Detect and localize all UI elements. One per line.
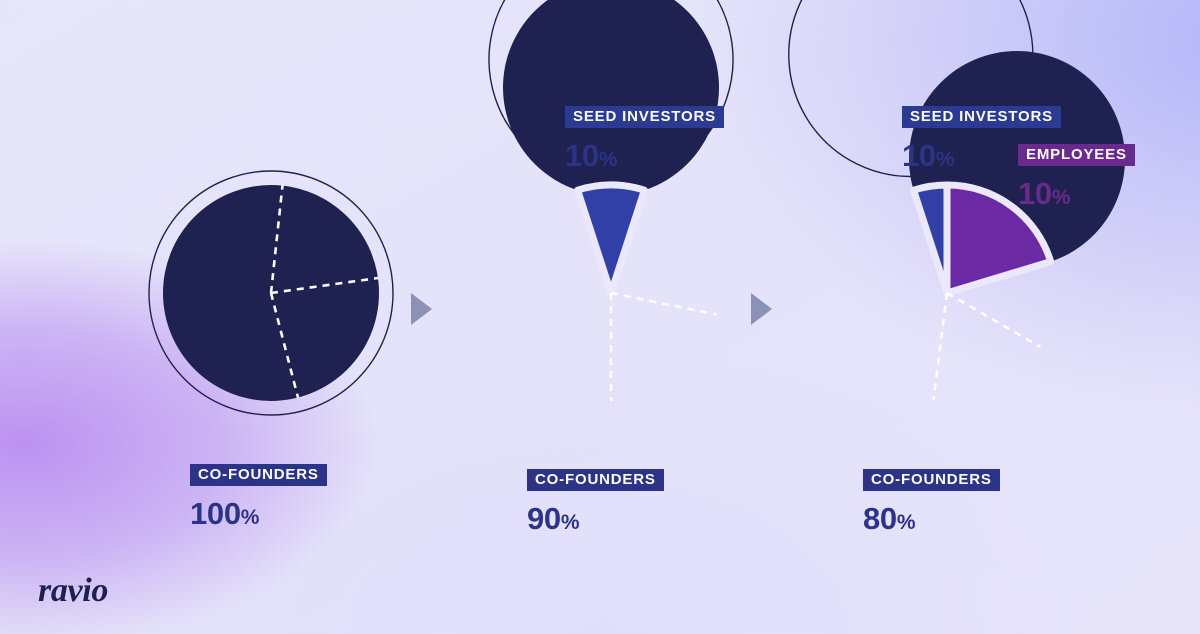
- value-number-employees-3: 10: [1018, 176, 1052, 211]
- value-number-seed-3: 10: [902, 138, 936, 173]
- badge-seed-investors-2: SEED INVESTORS: [565, 106, 724, 128]
- chart-stage-1: CO-FOUNDERS 100%: [146, 168, 396, 418]
- label-block-employees-3: EMPLOYEES 10%: [1018, 144, 1135, 209]
- arrow-stage2-to-stage3: [751, 293, 772, 325]
- badge-cofounders-2: CO-FOUNDERS: [527, 469, 664, 491]
- pie-chart-2: [486, 168, 736, 418]
- label-block-cofounders-3: CO-FOUNDERS 80%: [863, 469, 1000, 534]
- value-symbol-seed-3: %: [936, 148, 955, 171]
- label-block-seed-2: SEED INVESTORS 10%: [565, 106, 724, 171]
- badge-cofounders-1: CO-FOUNDERS: [190, 464, 327, 486]
- value-employees-3: 10%: [1018, 178, 1135, 209]
- value-number-cofounders-3: 80: [863, 501, 897, 536]
- value-symbol-employees-3: %: [1052, 186, 1071, 209]
- cofounder-subdivision-lines-3: [934, 293, 1041, 400]
- slice-seed-investors-2: [578, 185, 645, 293]
- value-cofounders-2: 90%: [527, 503, 664, 534]
- badge-cofounders-3: CO-FOUNDERS: [863, 469, 1000, 491]
- value-cofounders-1: 100%: [190, 498, 327, 529]
- value-cofounders-3: 80%: [863, 503, 1000, 534]
- arrow-stage1-to-stage2: [411, 293, 432, 325]
- value-number-seed-2: 10: [565, 138, 599, 173]
- value-symbol-cofounders-3: %: [897, 511, 916, 534]
- badge-employees-3: EMPLOYEES: [1018, 144, 1135, 166]
- cofounder-subdivision-lines-2: [611, 293, 717, 401]
- value-number-cofounders-1: 100: [190, 496, 241, 531]
- chart-stage-2: SEED INVESTORS 10% CO-FOUNDERS 90%: [486, 168, 736, 418]
- value-symbol-cofounders-1: %: [241, 506, 260, 529]
- value-symbol-cofounders-2: %: [561, 511, 580, 534]
- infographic-canvas: CO-FOUNDERS 100% SEED INVESTORS: [0, 0, 1200, 634]
- slice-seed-investors-3: [914, 185, 947, 293]
- value-seed-investors-2: 10%: [565, 140, 724, 171]
- pie-chart-1: [146, 168, 396, 418]
- ravio-logo: ravio: [38, 572, 108, 610]
- value-symbol-seed-2: %: [599, 148, 618, 171]
- badge-seed-investors-3: SEED INVESTORS: [902, 106, 1061, 128]
- label-block-cofounders-1: CO-FOUNDERS 100%: [190, 464, 327, 529]
- label-block-cofounders-2: CO-FOUNDERS 90%: [527, 469, 664, 534]
- chart-stage-3: SEED INVESTORS 10% EMPLOYEES 10% CO-FOUN…: [822, 168, 1072, 418]
- value-number-cofounders-2: 90: [527, 501, 561, 536]
